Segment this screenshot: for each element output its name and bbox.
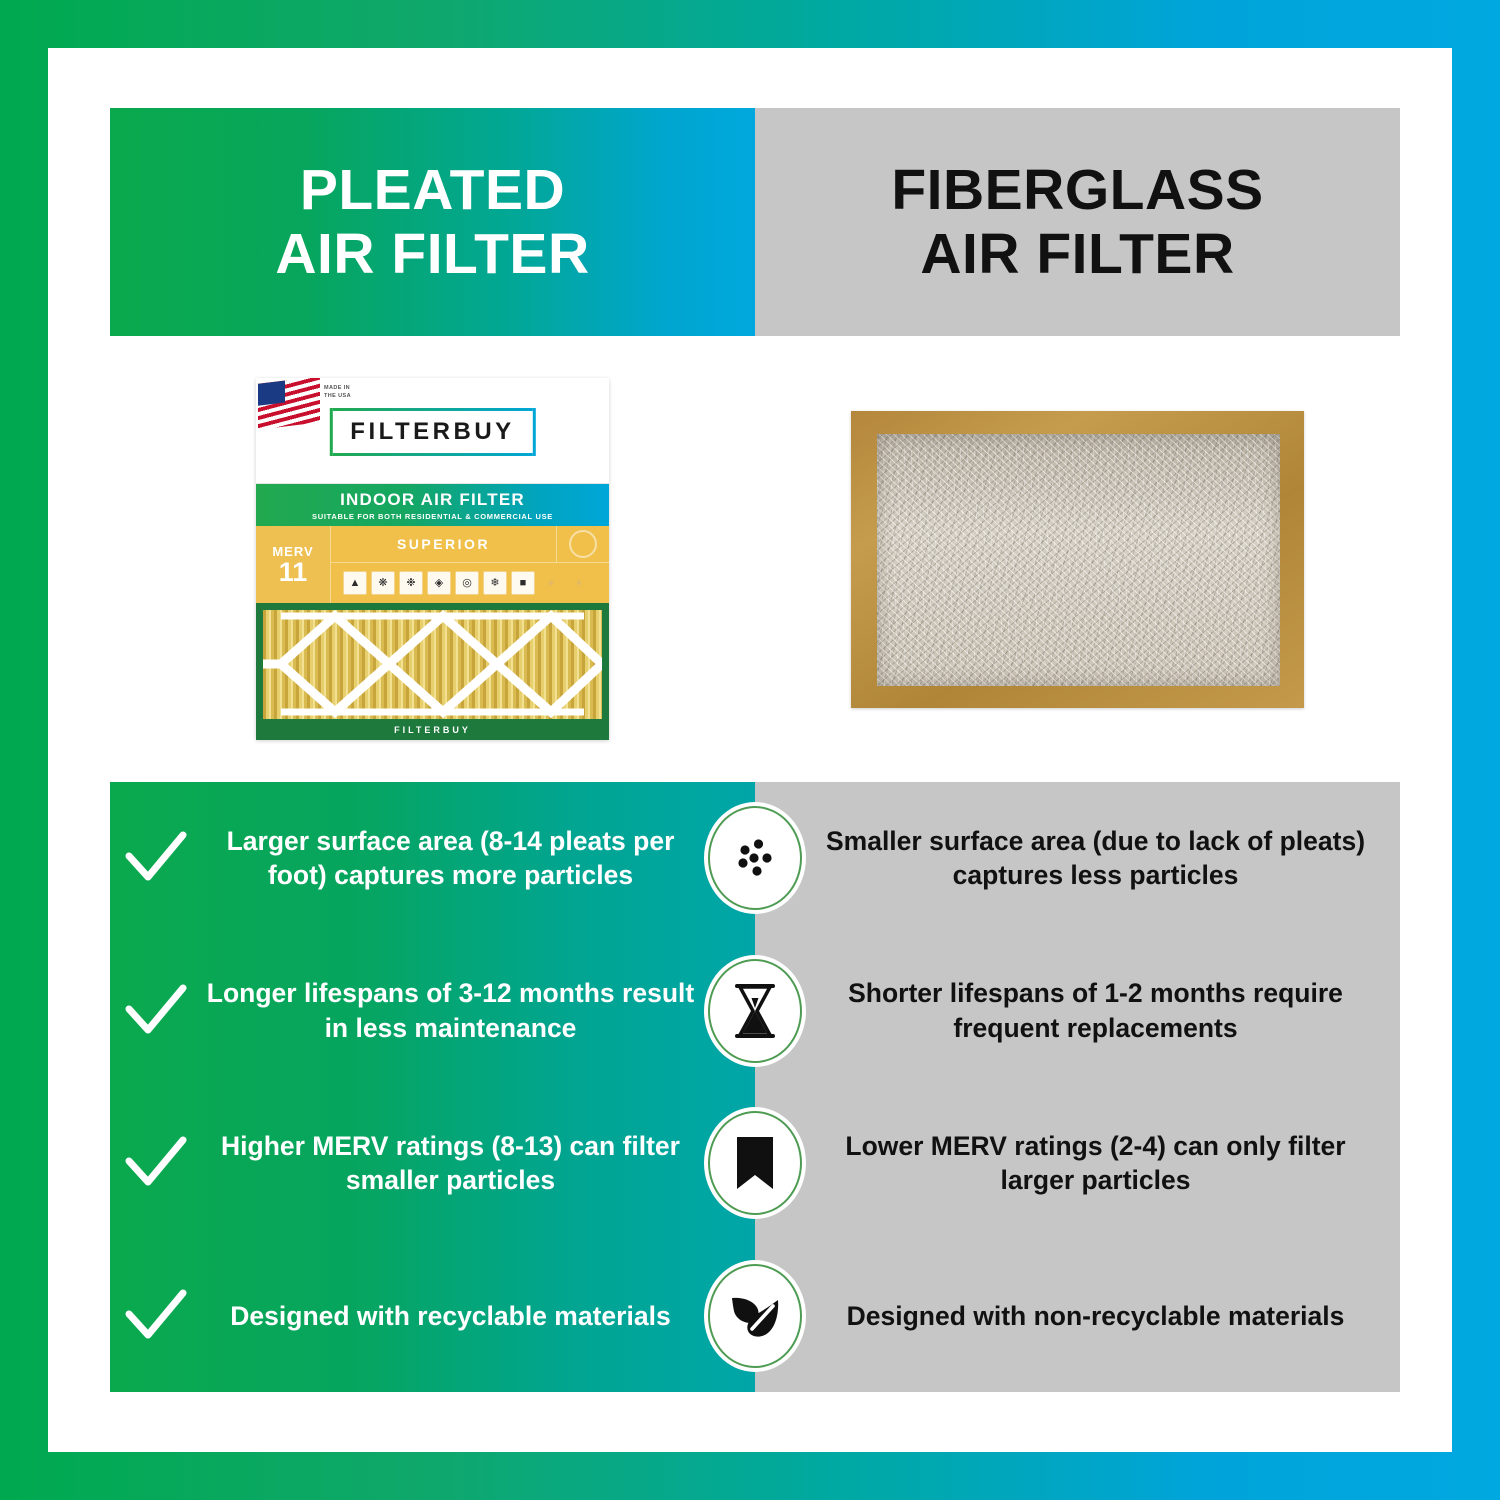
row-right-text: Lower MERV ratings (2-4) can only filter… [817, 1129, 1374, 1198]
header-pleated-title: PLEATED AIR FILTER [275, 158, 589, 287]
brand-logo-text: FILTERBUY [350, 418, 514, 446]
row-left-text: Longer lifespans of 3-12 months result i… [202, 976, 699, 1045]
merv-value: 11 [279, 559, 308, 586]
feature-icon-strip: ▲ ❋ ❉ ◈ ◎ ❄ ■ ● ♦ [331, 563, 609, 603]
certification-seal-icon [556, 526, 609, 563]
row-right-cell: Smaller surface area (due to lack of ple… [755, 824, 1400, 893]
diamond-support-grid [263, 610, 602, 719]
bookmark-icon [708, 1111, 802, 1215]
mold-icon: ❉ [399, 571, 423, 595]
fiberglass-mesh-texture [877, 434, 1280, 686]
pleated-media-window: FILTERBUY [256, 603, 609, 740]
allergen-icon: ♦ [567, 571, 591, 595]
package-band-title: INDOOR AIR FILTER [340, 490, 525, 510]
particles-icon [708, 806, 802, 910]
virus-icon: ◎ [455, 571, 479, 595]
seal-circle [569, 530, 597, 558]
row-right-text: Designed with non-recyclable materials [847, 1299, 1345, 1333]
smoke-icon: ■ [511, 571, 535, 595]
product-row: MADE IN THE USA FILTERBUY INDOOR AIR FIL… [110, 336, 1400, 782]
pollen-icon: ❋ [371, 571, 395, 595]
product-cell-pleated: MADE IN THE USA FILTERBUY INDOOR AIR FIL… [110, 336, 755, 782]
comparison-section: Larger surface area (8-14 pleats per foo… [110, 782, 1400, 1392]
comparison-rows: Larger surface area (8-14 pleats per foo… [110, 782, 1400, 1392]
comparison-row: Higher MERV ratings (8-13) can filter sm… [110, 1087, 1400, 1240]
package-merv-row: MERV 11 SUPERIOR ▲ [256, 526, 609, 603]
row-right-text: Smaller surface area (due to lack of ple… [817, 824, 1374, 893]
comparison-row: Longer lifespans of 3-12 months result i… [110, 935, 1400, 1088]
pleated-filter-package: MADE IN THE USA FILTERBUY INDOOR AIR FIL… [256, 378, 609, 740]
brand-logo-frame: FILTERBUY [329, 408, 535, 456]
odor-icon: ● [539, 571, 563, 595]
check-icon [110, 1289, 202, 1343]
package-footer-brand: FILTERBUY [256, 719, 609, 740]
check-icon [110, 984, 202, 1038]
product-cell-fiberglass [755, 336, 1400, 782]
row-right-cell: Shorter lifespans of 1-2 months require … [755, 976, 1400, 1045]
hourglass-icon [708, 959, 802, 1063]
row-left-cell: Higher MERV ratings (8-13) can filter sm… [110, 1129, 755, 1198]
fiberglass-filter-photo [851, 411, 1304, 708]
package-top-band: MADE IN THE USA FILTERBUY [256, 378, 609, 484]
infographic-canvas: PLEATED AIR FILTER FIBERGLASS AIR FILTER… [0, 0, 1500, 1500]
package-product-band: INDOOR AIR FILTER SUITABLE FOR BOTH RESI… [256, 484, 609, 526]
row-left-text: Higher MERV ratings (8-13) can filter sm… [202, 1129, 699, 1198]
check-icon [110, 831, 202, 885]
pet-dander-icon: ❄ [483, 571, 507, 595]
row-left-text: Larger surface area (8-14 pleats per foo… [202, 824, 699, 893]
usa-flag-icon [258, 378, 320, 430]
leaf-icon [708, 1264, 802, 1368]
dust-icon: ▲ [343, 571, 367, 595]
row-left-cell: Designed with recyclable materials [110, 1289, 755, 1343]
comparison-row: Designed with recyclable materials Desig… [110, 1240, 1400, 1393]
grade-label: SUPERIOR [331, 526, 556, 563]
row-right-text: Shorter lifespans of 1-2 months require … [817, 976, 1374, 1045]
row-left-cell: Longer lifespans of 3-12 months result i… [110, 976, 755, 1045]
white-card: PLEATED AIR FILTER FIBERGLASS AIR FILTER… [48, 48, 1452, 1452]
comparison-row: Larger surface area (8-14 pleats per foo… [110, 782, 1400, 935]
merv-right-column: SUPERIOR ▲ ❋ ❉ ◈ ◎ ❄ [331, 526, 609, 603]
merv-block: MERV 11 [256, 526, 331, 603]
header-row: PLEATED AIR FILTER FIBERGLASS AIR FILTER [110, 108, 1400, 336]
bacteria-icon: ◈ [427, 571, 451, 595]
row-right-cell: Designed with non-recyclable materials [755, 1299, 1400, 1333]
made-in-usa-label: MADE IN THE USA [324, 384, 351, 401]
header-fiberglass: FIBERGLASS AIR FILTER [755, 108, 1400, 336]
row-right-cell: Lower MERV ratings (2-4) can only filter… [755, 1129, 1400, 1198]
check-icon [110, 1136, 202, 1190]
row-left-cell: Larger surface area (8-14 pleats per foo… [110, 824, 755, 893]
header-fiberglass-title: FIBERGLASS AIR FILTER [891, 158, 1263, 287]
package-band-subtitle: SUITABLE FOR BOTH RESIDENTIAL & COMMERCI… [312, 512, 553, 521]
grade-row: SUPERIOR [331, 526, 609, 563]
header-pleated: PLEATED AIR FILTER [110, 108, 755, 336]
row-left-text: Designed with recyclable materials [202, 1299, 699, 1333]
